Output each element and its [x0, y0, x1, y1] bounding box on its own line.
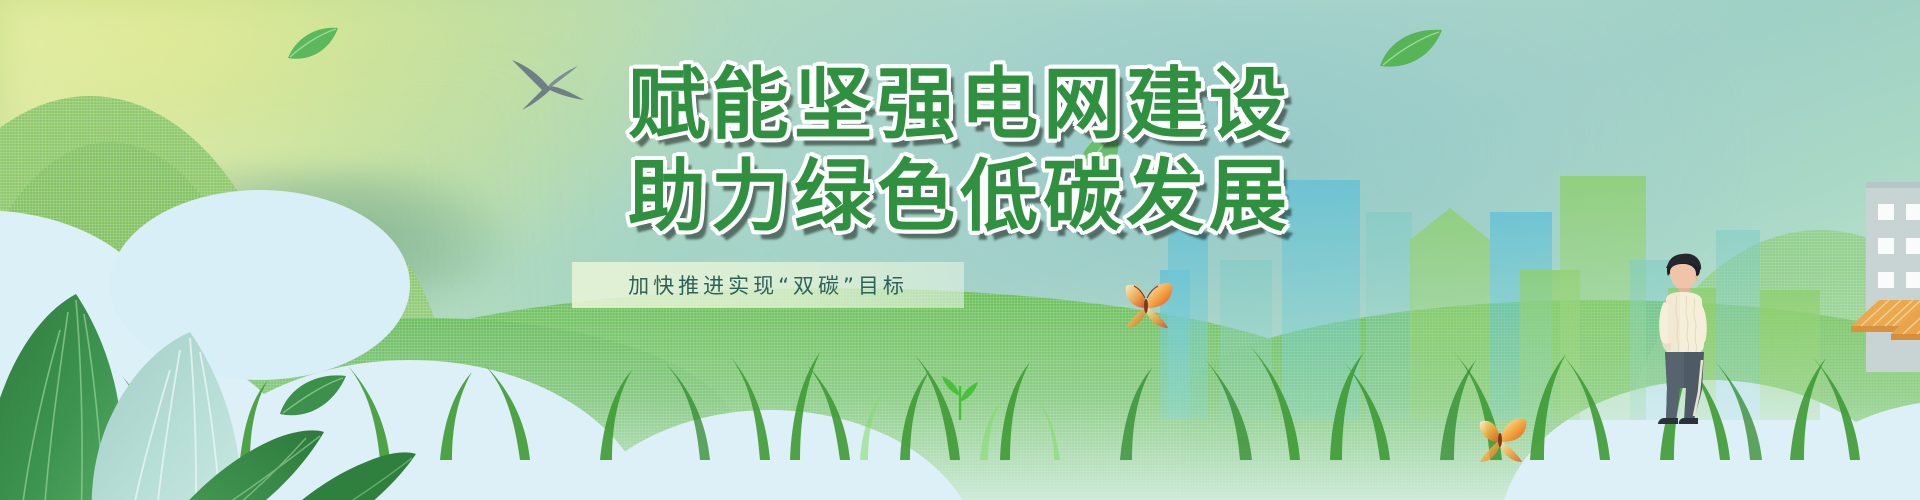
flying-leaf — [276, 370, 348, 420]
tropical-leaf — [250, 452, 420, 500]
flying-leaf — [286, 24, 340, 64]
sprout — [930, 370, 990, 420]
flying-leaf — [1378, 26, 1444, 72]
swallow-bird — [508, 56, 588, 110]
banner-hero: 赋能坚强电网建设 助力绿色低碳发展 加快推进实现“双碳”目标 — [0, 0, 1920, 500]
subtitle-text: 加快推进实现“双碳”目标 — [572, 262, 964, 308]
butterfly — [1474, 414, 1528, 464]
butterfly — [1118, 278, 1174, 330]
flying-leaf — [1072, 128, 1128, 188]
walking-person — [1636, 248, 1732, 424]
